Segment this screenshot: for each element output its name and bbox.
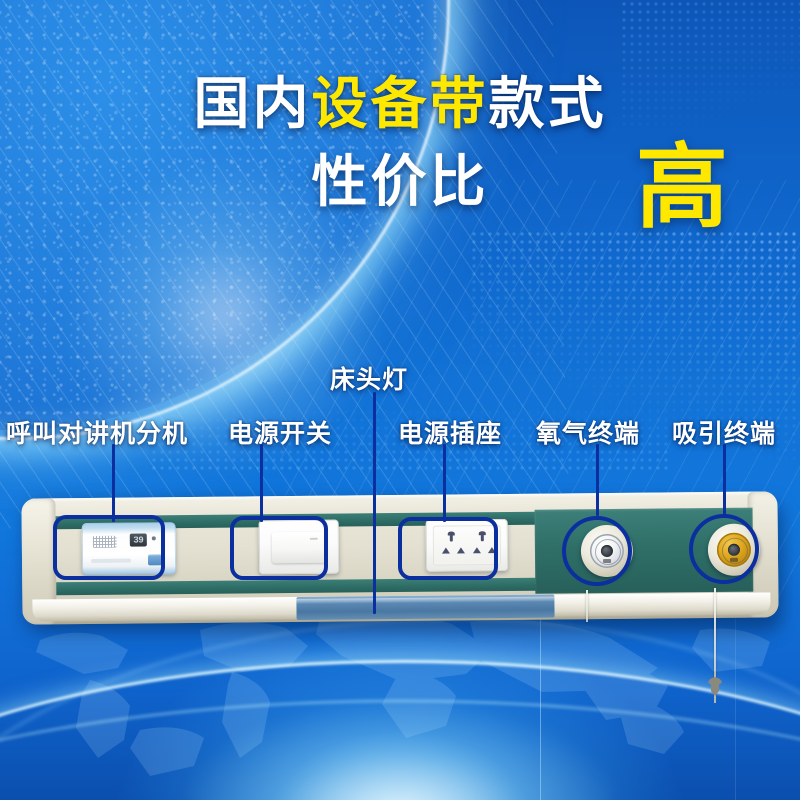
headline-gao-highlight: 高: [636, 142, 728, 234]
callout-label-oxygen-outlet: 氧气终端: [536, 414, 640, 450]
headline-line-1: 国内设备带款式: [0, 76, 800, 132]
callout-label-power-switch: 电源开关: [228, 414, 332, 450]
callout-label-intercom: 呼叫对讲机分机: [6, 414, 188, 450]
callout-label-power-socket: 电源插座: [398, 414, 502, 450]
leader-line-oxygen-outlet: [596, 444, 599, 516]
promo-banner: 国内设备带款式 性价比 高 呼叫对讲机分机 电源开关 床头灯 电源插座 氧气终端…: [0, 0, 800, 800]
callout-label-bed-lamp: 床头灯: [330, 360, 408, 396]
leader-line-power-switch: [260, 444, 263, 522]
leader-line-suction-outlet: [723, 444, 726, 516]
leader-line-power-socket: [443, 444, 446, 522]
leader-line-intercom: [112, 444, 115, 522]
headline-line1-part2: 款式: [489, 72, 607, 135]
headline-line1-highlight: 设备带: [312, 72, 489, 135]
leader-line-bed-lamp: [373, 392, 376, 614]
headline-line1-part1: 国内: [194, 72, 312, 135]
